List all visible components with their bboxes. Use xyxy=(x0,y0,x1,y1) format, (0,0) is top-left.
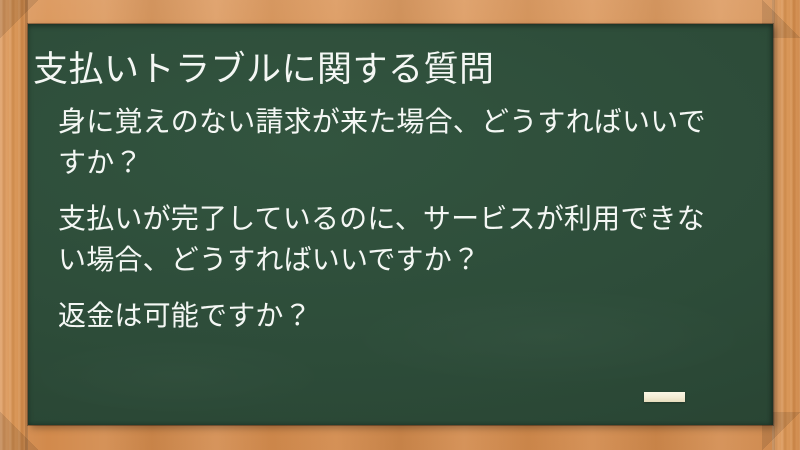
list-item: 返金は可能ですか？ xyxy=(58,296,731,337)
chalkboard-surface: 支払いトラブルに関する質問 身に覚えのない請求が来た場合、どうすればいいですか？… xyxy=(28,24,773,425)
page-title: 支払いトラブルに関する質問 xyxy=(33,49,753,93)
list-item: 支払いが完了しているのに、サービスが利用できない場合、どうすればいいですか？ xyxy=(58,199,731,281)
chalk-stick-icon xyxy=(644,392,685,402)
chalkboard-slide: 支払いトラブルに関する質問 身に覚えのない請求が来た場合、どうすればいいですか？… xyxy=(0,0,800,450)
question-list: 身に覚えのない請求が来た場合、どうすればいいですか？ 支払いが完了しているのに、… xyxy=(58,102,731,336)
frame-rail-left xyxy=(0,0,28,450)
frame-rail-right xyxy=(772,0,800,450)
list-item: 身に覚えのない請求が来た場合、どうすればいいですか？ xyxy=(58,102,731,184)
